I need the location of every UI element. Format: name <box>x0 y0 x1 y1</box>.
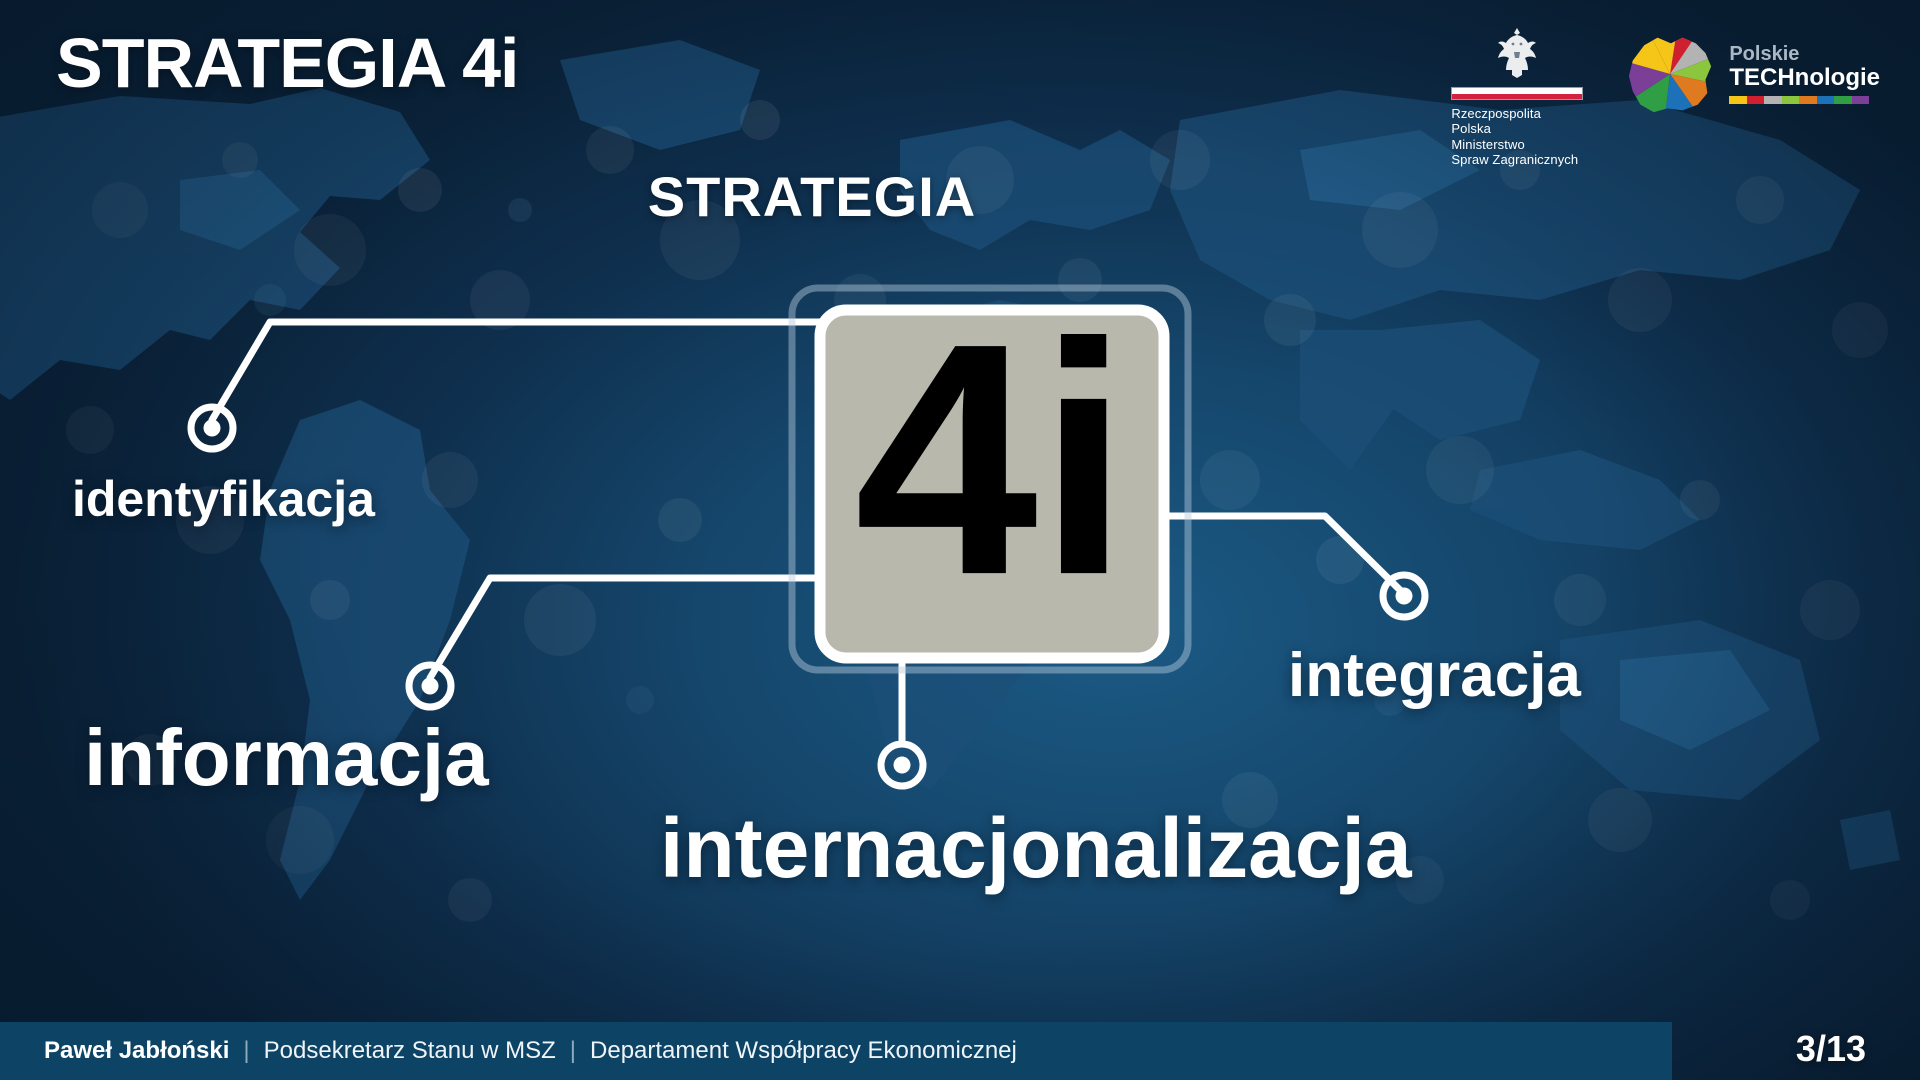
footer-text: Paweł Jabłoński | Podsekretarz Stanu w M… <box>44 1037 1017 1065</box>
node-label-informacja: informacja <box>84 712 489 804</box>
core-caption-text: STRATEGIA <box>648 165 976 228</box>
node-label-internacjonalizacja: internacjonalizacja <box>660 800 1412 897</box>
footer-bar: Paweł Jabłoński | Podsekretarz Stanu w M… <box>0 1022 1672 1080</box>
core-caption: STRATEGIA <box>0 164 1920 229</box>
connector-identyfikacja <box>212 322 820 420</box>
footer-speaker: Paweł Jabłoński <box>44 1037 229 1065</box>
footer-role: Podsekretarz Stanu w MSZ <box>264 1037 556 1065</box>
footer-separator-2: | <box>570 1037 576 1065</box>
node-marker-integracja <box>1383 575 1425 617</box>
footer-separator-1: | <box>243 1037 249 1065</box>
footer-department: Departament Współpracy Ekonomicznej <box>590 1037 1017 1065</box>
slide-canvas: STRATEGIA 4i <box>0 0 1920 1080</box>
connector-integracja <box>1160 516 1402 592</box>
strategy-diagram: 4i <box>0 0 1920 1080</box>
page-number: 3/13 <box>1796 1028 1866 1070</box>
node-label-identyfikacja: identyfikacja <box>72 470 375 528</box>
node-marker-internacjonalizacja <box>881 744 923 786</box>
connector-informacja <box>430 578 820 678</box>
node-label-integracja: integracja <box>1288 640 1581 711</box>
core-value: 4i <box>854 274 1129 643</box>
